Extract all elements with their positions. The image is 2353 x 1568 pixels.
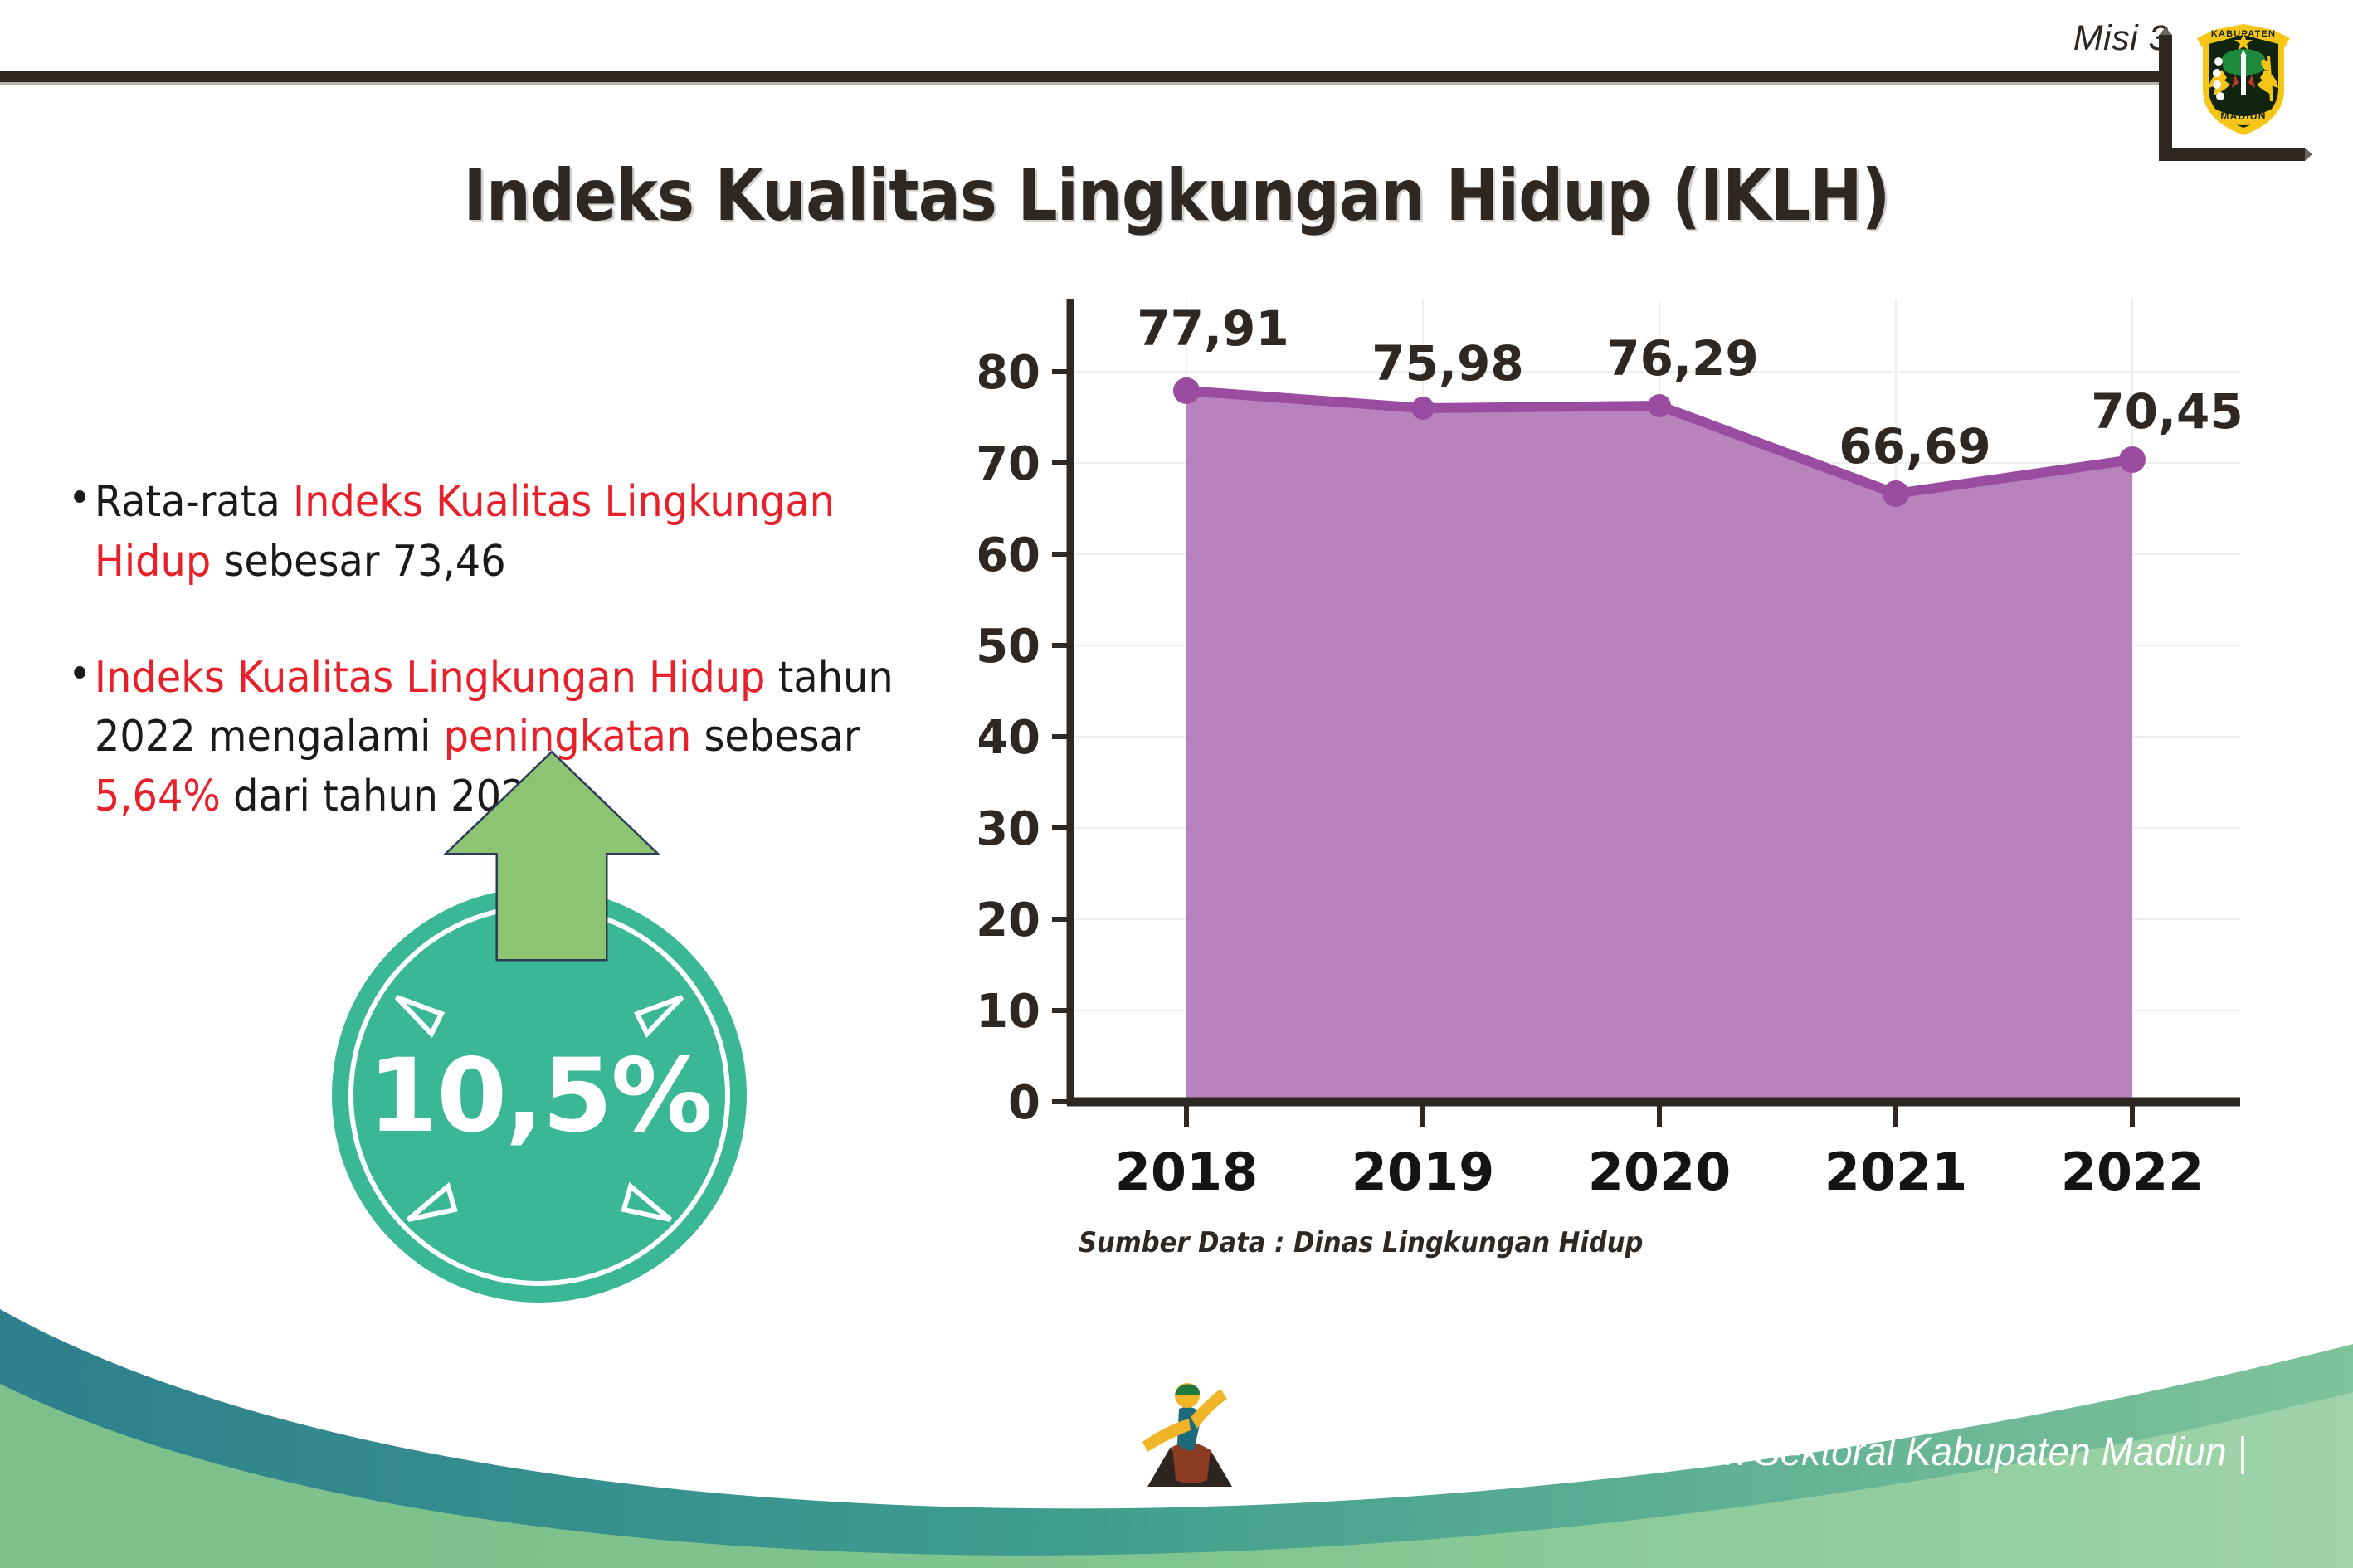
x-tick-label: 2021: [1824, 1142, 1968, 1202]
y-tick-label: 50: [979, 620, 1040, 674]
chart-y-tick-labels: 0 10 20 30 40 50 60 70 80: [979, 346, 1040, 1130]
bullet-text: Rata-rata Indeks Kualitas Lingkungan Hid…: [95, 473, 915, 592]
chart-source-note: Sumber Data : Dinas Lingkungan Hidup: [1079, 1226, 1643, 1259]
footer-caption: Media Infografis Data Statistik Sektoral…: [1236, 1429, 2247, 1475]
y-tick-label: 40: [979, 711, 1040, 765]
y-tick-label: 0: [1008, 1076, 1040, 1130]
y-tick-label: 70: [979, 437, 1040, 491]
bullet-text-part-highlight: Indeks Kualitas Lingkungan Hidup: [95, 653, 766, 703]
chart-x-tick-labels: 2018 2019 2020 2021 2022: [1115, 1142, 2204, 1202]
bullet-marker: •: [68, 473, 91, 524]
header-divider-rule: [0, 71, 2161, 82]
dancer-figure-icon: [1141, 1371, 1240, 1495]
bracket-vertical-bar: [2159, 35, 2172, 161]
bullet-text-part: Rata-rata: [95, 477, 293, 527]
y-tick-label: 20: [979, 894, 1040, 947]
iklh-area-chart: 0 10 20 30 40 50 60 70 80 2018 2019 2020…: [979, 282, 2273, 1211]
bullet-marker: •: [68, 649, 91, 700]
list-item: • Rata-rata Indeks Kualitas Lingkungan H…: [68, 473, 915, 592]
y-tick-label: 30: [979, 802, 1040, 856]
y-tick-label: 80: [979, 346, 1040, 400]
y-tick-label: 10: [979, 985, 1040, 1039]
value-label: 77,91: [1137, 300, 1289, 357]
x-tick-label: 2018: [1115, 1142, 1259, 1202]
y-tick-label: 60: [979, 528, 1040, 582]
value-label: 66,69: [1839, 418, 1990, 475]
value-label: 70,45: [2091, 383, 2243, 440]
x-tick-label: 2022: [2061, 1142, 2204, 1202]
value-label: 75,98: [1371, 335, 1523, 392]
chart-area-fill: [1186, 391, 2132, 1102]
bullet-text-part-highlight: 5,64%: [95, 772, 221, 821]
x-tick-label: 2020: [1588, 1142, 1732, 1202]
increase-badge: 10,5%: [315, 747, 797, 1244]
badge-value-label: 10,5%: [332, 1037, 747, 1155]
x-tick-label: 2019: [1352, 1142, 1495, 1202]
svg-text:KABUPATEN: KABUPATEN: [2211, 29, 2276, 39]
svg-text:MADIUN: MADIUN: [2220, 110, 2266, 122]
mission-label: Misi 3: [2073, 18, 2169, 59]
kabupaten-madiun-logo-icon: MADIUN KABUPATEN: [2189, 8, 2298, 141]
value-label: 76,29: [1606, 330, 1758, 387]
bullet-text-part: sebesar 73,46: [211, 537, 505, 587]
page-title: Indeks Kualitas Lingkungan Hidup (IKLH): [141, 154, 2212, 237]
